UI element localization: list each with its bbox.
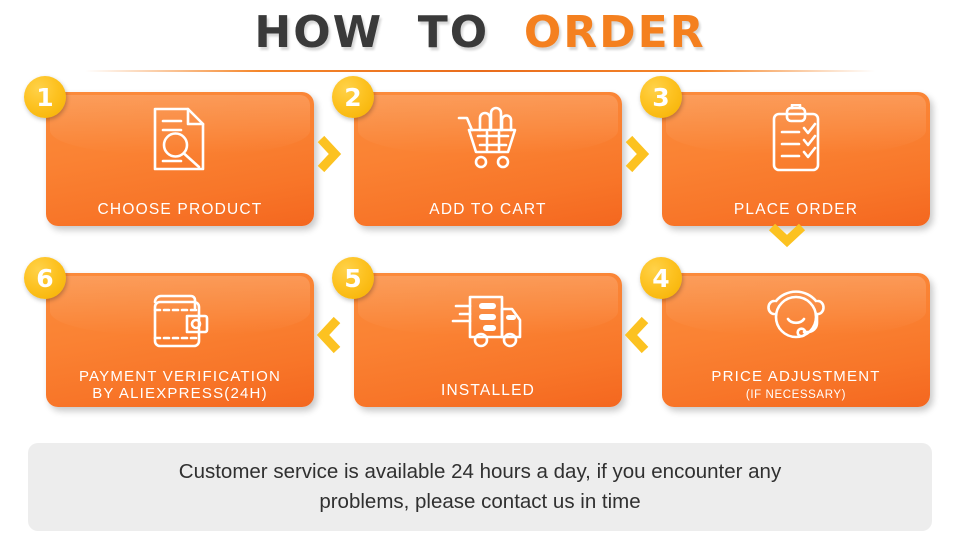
- page-title-primary: HOW TO: [254, 7, 523, 58]
- step-label-1: CHOOSE PRODUCT: [46, 201, 314, 218]
- step-badge-2: 2: [332, 76, 374, 118]
- step-label-6-main: PAYMENT VERIFICATION: [79, 368, 281, 385]
- step-card-place-order[interactable]: 3 PLACE ORDER: [662, 92, 930, 226]
- chevron-down-icon: [767, 222, 807, 255]
- step-label-4-main: PRICE ADJUSTMENT: [711, 368, 880, 385]
- document-search-icon: [147, 104, 213, 174]
- step-label-3: PLACE ORDER: [662, 201, 930, 218]
- step-badge-6: 6: [24, 257, 66, 299]
- step-badge-5: 5: [332, 257, 374, 299]
- chevron-right-icon: [624, 134, 650, 179]
- step-card-payment-verification[interactable]: 6 PAYMENT VERIFICATIONBY ALIEXPRESS(24H): [46, 273, 314, 407]
- step-badge-3: 3: [640, 76, 682, 118]
- step-label-4-sub: (IF NECESSARY): [746, 389, 846, 401]
- step-label-2: ADD TO CART: [354, 201, 622, 218]
- how-to-order-flow: 1 CHOOSE PRODUCT 2: [0, 72, 960, 417]
- chevron-left-icon: [624, 315, 650, 360]
- wallet-icon: [147, 285, 213, 355]
- customer-service-notice-text: Customer service is available 24 hours a…: [179, 457, 781, 516]
- page-title-accent: ORDER: [524, 7, 706, 58]
- step-label-4: PRICE ADJUSTMENT(IF NECESSARY): [662, 369, 930, 403]
- page-header: HOW TO ORDER: [0, 0, 960, 62]
- step-card-installed[interactable]: 5 INSTALLED: [354, 273, 622, 407]
- chevron-left-icon: [316, 315, 342, 360]
- delivery-truck-icon: [450, 285, 526, 355]
- step-badge-4: 4: [640, 257, 682, 299]
- step-label-5: INSTALLED: [354, 382, 622, 399]
- step-card-choose-product[interactable]: 1 CHOOSE PRODUCT: [46, 92, 314, 226]
- customer-support-headset-icon: [760, 285, 832, 355]
- step-badge-1: 1: [24, 76, 66, 118]
- chevron-right-icon: [316, 134, 342, 179]
- step-card-price-adjustment[interactable]: 4 PRICE ADJUSTMENT(IF NECESSARY): [662, 273, 930, 407]
- step-label-6: PAYMENT VERIFICATIONBY ALIEXPRESS(24H): [46, 369, 314, 403]
- customer-service-notice: Customer service is available 24 hours a…: [28, 443, 932, 531]
- step-label-6-sub: BY ALIEXPRESS(24H): [92, 385, 268, 402]
- page-title: HOW TO ORDER: [254, 11, 705, 55]
- clipboard-checklist-icon: [766, 104, 826, 174]
- step-card-add-to-cart[interactable]: 2 ADD TO CART: [354, 92, 622, 226]
- shopping-cart-icon: [454, 104, 522, 174]
